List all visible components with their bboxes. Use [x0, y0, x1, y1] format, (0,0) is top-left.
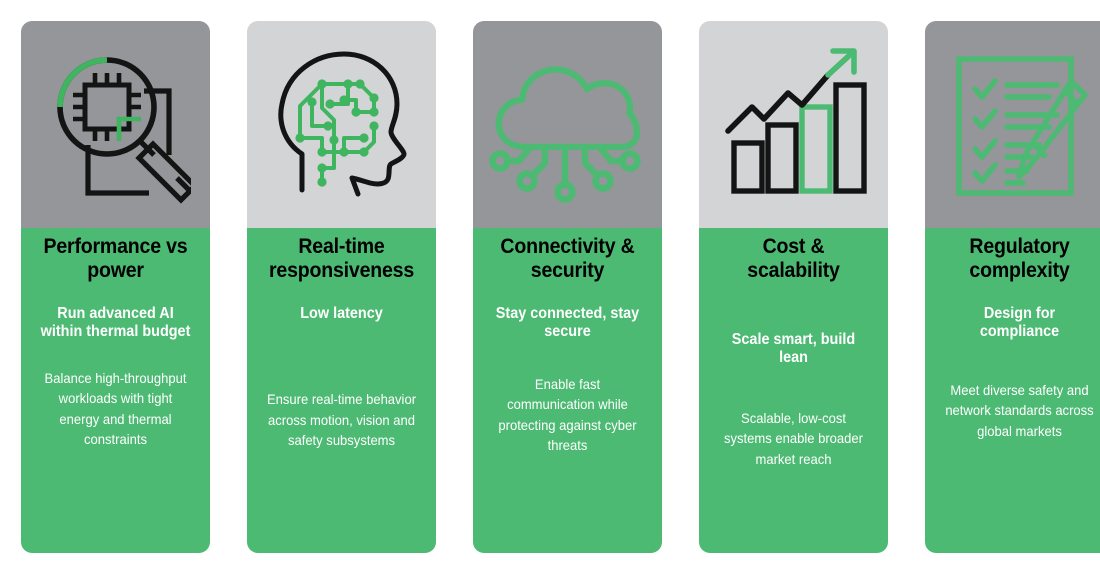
card-cost-and-scalability[interactable]: Cost & scalability Scale smart, build le…: [699, 21, 888, 553]
card-performance-vs-power[interactable]: Performance vs power Run advanced AI wit…: [21, 21, 210, 553]
card-title: Real-time responsiveness: [262, 235, 421, 283]
cloud-network-icon: [489, 45, 647, 205]
card-icon-area: [473, 21, 662, 228]
card-text-area: Connectivity & security Stay connected, …: [473, 228, 662, 553]
card-description: Ensure real-time behavior across motion,…: [262, 389, 421, 450]
card-title: Cost & scalability: [714, 235, 873, 283]
card-title: Connectivity & security: [488, 235, 647, 283]
card-text-area: Real-time responsiveness Low latency Ens…: [247, 228, 436, 553]
card-subtitle: Scale smart, build lean: [714, 331, 873, 368]
card-description: Scalable, low-cost systems enable broade…: [714, 408, 873, 469]
card-regulatory-complexity[interactable]: Regulatory complexity Design for complia…: [925, 21, 1100, 553]
card-description: Meet diverse safety and network standard…: [940, 380, 1099, 441]
card-description: Enable fast communication while protecti…: [488, 374, 647, 455]
card-icon-area: [21, 21, 210, 228]
card-icon-area: [247, 21, 436, 228]
card-title: Performance vs power: [36, 235, 195, 283]
card-real-time-responsiveness[interactable]: Real-time responsiveness Low latency Ens…: [247, 21, 436, 553]
card-subtitle: Run advanced AI within thermal budget: [36, 305, 195, 342]
card-subtitle: Design for compliance: [940, 305, 1099, 342]
magnifier-microchip-icon: [41, 45, 191, 205]
card-icon-area: [925, 21, 1100, 228]
card-text-area: Cost & scalability Scale smart, build le…: [699, 228, 888, 553]
infographic-card-row: Performance vs power Run advanced AI wit…: [0, 0, 1100, 576]
card-subtitle: Low latency: [262, 305, 421, 324]
checklist-pen-icon: [945, 45, 1095, 205]
card-icon-area: [699, 21, 888, 228]
card-text-area: Regulatory complexity Design for complia…: [925, 228, 1100, 553]
head-circuit-brain-icon: [264, 42, 419, 207]
card-text-area: Performance vs power Run advanced AI wit…: [21, 228, 210, 553]
card-subtitle: Stay connected, stay secure: [488, 305, 647, 342]
card-description: Balance high-throughput workloads with t…: [36, 368, 195, 449]
growth-bar-chart-arrow-icon: [718, 45, 870, 205]
card-connectivity-and-security[interactable]: Connectivity & security Stay connected, …: [473, 21, 662, 553]
card-title: Regulatory complexity: [940, 235, 1099, 283]
